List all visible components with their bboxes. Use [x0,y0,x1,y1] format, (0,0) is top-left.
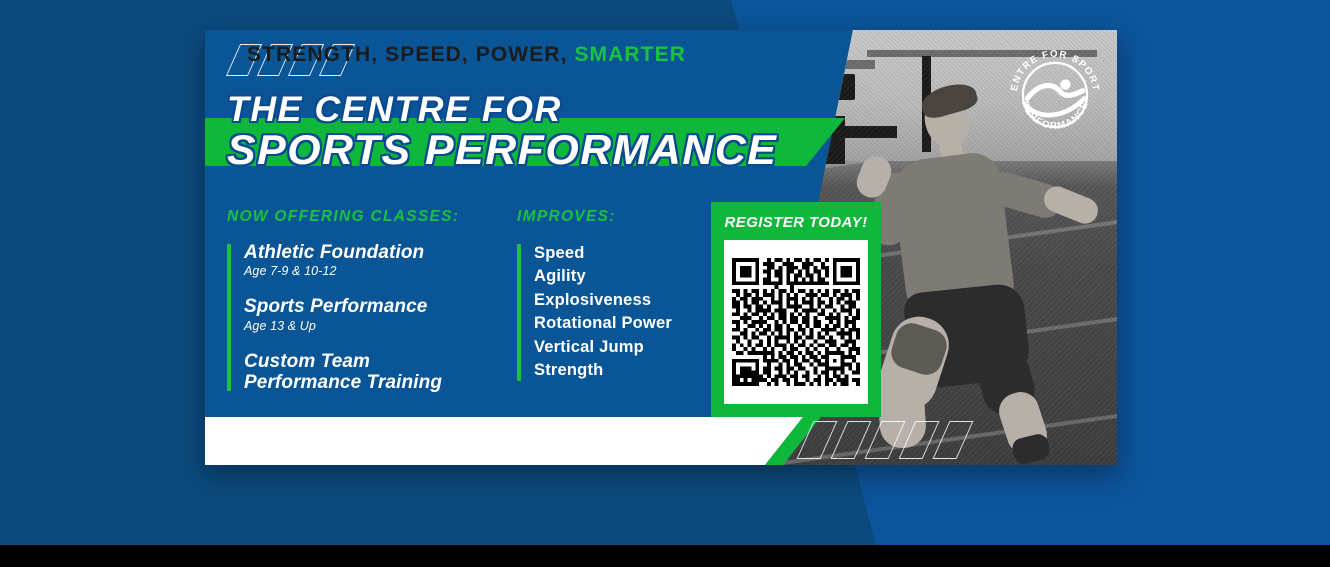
tagline: STRENGTH, SPEED, POWER, SMARTER [247,43,686,67]
class-title: Athletic Foundation [244,242,507,263]
registration-qr-code[interactable] [732,258,860,386]
list-item: Strength [534,359,707,382]
bottom-black-bar [0,545,1330,567]
slash-shape [899,421,940,459]
list-item: Vertical Jump [534,336,707,359]
improves-column: IMPROVES: Speed Agility Explosiveness Ro… [517,208,707,383]
slash-shape [831,421,872,459]
page-title: THE CENTRE FOR SPORTS PERFORMANCE [227,92,767,171]
classes-column: NOW OFFERING CLASSES: Athletic Foundatio… [227,208,507,393]
qr-code-container[interactable] [724,240,868,404]
list-item: Explosiveness [534,289,707,312]
register-panel[interactable]: REGISTER TODAY! [711,202,881,417]
tagline-prefix: STRENGTH, SPEED, POWER, [247,43,574,66]
list-item: Custom Team Performance Training [244,351,507,394]
class-age: Age 7-9 & 10-12 [244,264,507,278]
class-age: Age 13 & Up [244,319,507,333]
decoration-slashes-bottom [805,421,965,459]
classes-heading: NOW OFFERING CLASSES: [227,208,507,226]
improves-heading: IMPROVES: [517,208,707,226]
classes-list: Athletic Foundation Age 7-9 & 10-12 Spor… [227,242,507,393]
class-title: Sports Performance [244,296,507,317]
headline-line-1: THE CENTRE FOR [227,92,777,127]
tagline-accent: SMARTER [574,43,686,66]
improves-list: Speed Agility Explosiveness Rotational P… [517,242,707,383]
flyer-stage: CENTRE FOR SPORTS PERFORMANCE [0,0,1330,567]
slash-shape [865,421,906,459]
flyer-card: CENTRE FOR SPORTS PERFORMANCE [205,30,1117,465]
list-item: Speed [534,242,707,265]
list-item: Agility [534,265,707,288]
class-title: Custom Team Performance Training [244,351,507,394]
list-item: Rotational Power [534,312,707,335]
logo-badge: CENTRE FOR SPORTS PERFORMANCE [1003,43,1107,147]
headline-line-2: SPORTS PERFORMANCE [227,129,777,171]
list-item: Athletic Foundation Age 7-9 & 10-12 [244,242,507,278]
list-item: Sports Performance Age 13 & Up [244,296,507,332]
register-title: REGISTER TODAY! [711,202,881,231]
